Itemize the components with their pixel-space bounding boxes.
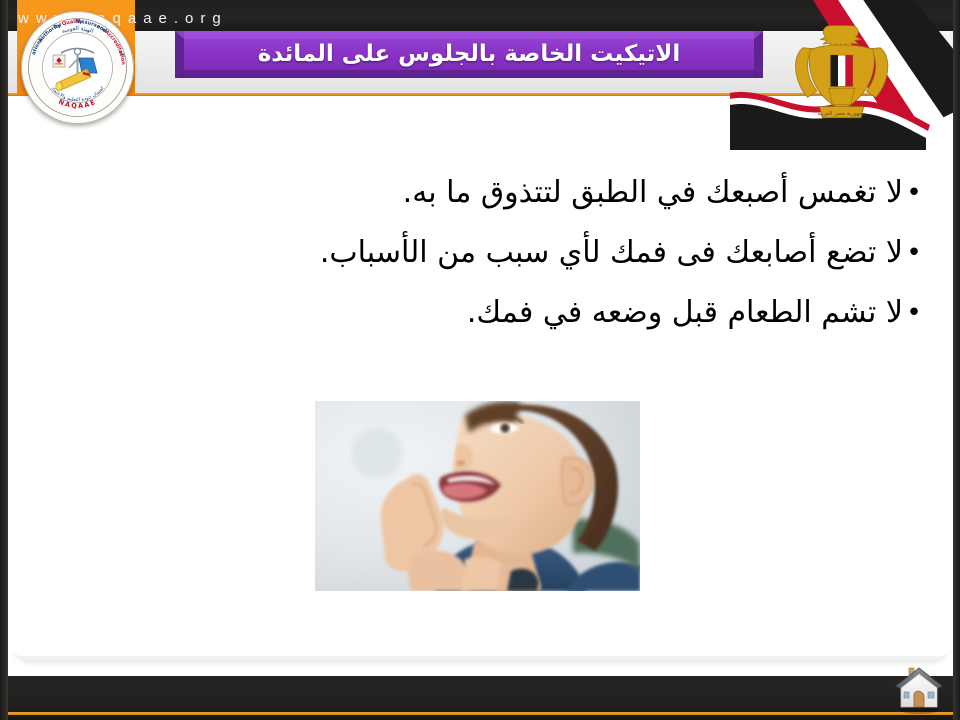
child-licking-finger-photo (315, 401, 640, 591)
bullet-text: لا تضع أصابعك فى فمك لأي سبب من الأسباب. (320, 228, 903, 278)
presentation-slide: N ational Authority for Quality Assuranc… (0, 0, 960, 720)
home-icon[interactable] (892, 664, 946, 714)
list-item: • لا تغمس أصبعك في الطبق لتتذوق ما به. (40, 168, 925, 218)
bullet-text: لا تغمس أصبعك في الطبق لتتذوق ما به. (403, 168, 903, 218)
footer-orange-rule (0, 712, 960, 715)
naqaae-logo-icon: N ational Authority for Quality Assuranc… (21, 11, 134, 124)
frame-left-border (0, 0, 8, 720)
bullet-list: • لا تغمس أصبعك في الطبق لتتذوق ما به. •… (40, 168, 925, 348)
list-item: • لا تضع أصابعك فى فمك لأي سبب من الأسبا… (40, 228, 925, 278)
slide-title-banner: الاتيكيت الخاصة بالجلوس على المائدة (175, 31, 763, 78)
header-orange-rule (0, 93, 960, 96)
bullet-marker-icon: • (903, 168, 925, 218)
list-item: • لا تشم الطعام قبل وضعه في فمك. (40, 288, 925, 338)
slide-title-text: الاتيكيت الخاصة بالجلوس على المائدة (175, 31, 763, 78)
bullet-marker-icon: • (903, 288, 925, 338)
frame-right-border (953, 0, 960, 720)
bullet-text: لا تشم الطعام قبل وضعه في فمك. (467, 288, 903, 338)
bullet-marker-icon: • (903, 228, 925, 278)
